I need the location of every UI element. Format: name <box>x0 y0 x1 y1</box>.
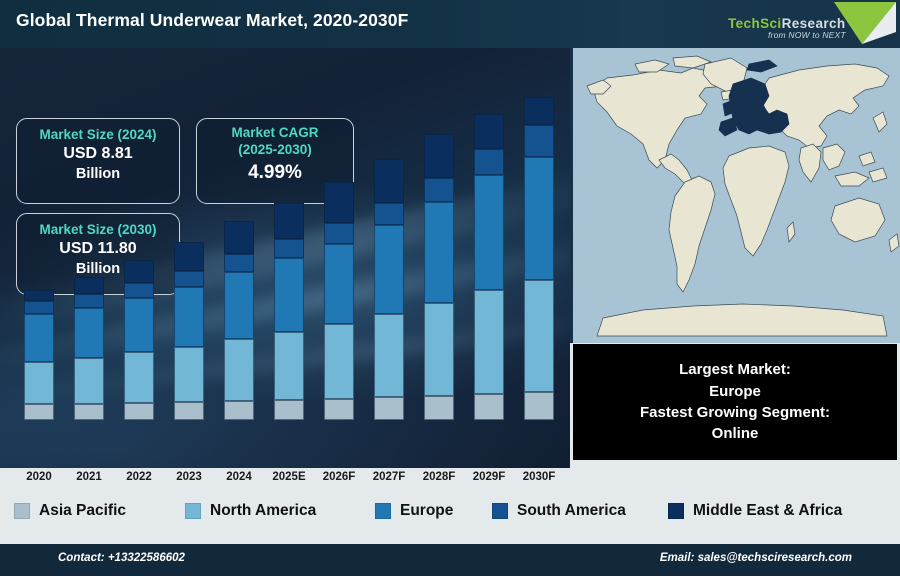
x-axis-tick-label: 2020 <box>14 471 64 483</box>
chart-bar <box>424 134 454 420</box>
legend-label: Europe <box>400 502 453 520</box>
x-axis-tick-label: 2022 <box>114 471 164 483</box>
chart-x-axis: 202020212022202320242025E2026F2027F2028F… <box>0 468 570 490</box>
header-bar: Global Thermal Underwear Market, 2020-20… <box>0 0 900 48</box>
legend-swatch <box>492 503 508 519</box>
chart-bar-segment <box>174 271 204 287</box>
stacked-bar-chart <box>0 48 570 468</box>
chart-bar-segment <box>274 203 304 239</box>
x-axis-tick-label: 2030F <box>514 471 564 483</box>
chart-bar-segment <box>124 403 154 420</box>
world-map <box>570 48 900 343</box>
footer-email: Email: sales@techsciresearch.com <box>660 552 852 564</box>
legend-swatch <box>14 503 30 519</box>
chart-bar <box>124 260 154 420</box>
chart-bar-segment <box>374 397 404 420</box>
chart-bar-segment <box>274 258 304 332</box>
chart-panel: Market Size (2024) USD 8.81 Billion Mark… <box>0 48 570 468</box>
chart-bar-segment <box>74 358 104 404</box>
legend-swatch <box>375 503 391 519</box>
footer-contact: Contact: +13322586602 <box>58 552 185 564</box>
infographic-root: Global Thermal Underwear Market, 2020-20… <box>0 0 900 576</box>
chart-bar <box>474 114 504 420</box>
chart-bar-segment <box>74 277 104 294</box>
chart-bar-segment <box>74 308 104 358</box>
legend-label: South America <box>517 502 626 520</box>
x-axis-tick-label: 2027F <box>364 471 414 483</box>
legend-item[interactable]: North America <box>185 502 316 520</box>
chart-bar <box>374 159 404 420</box>
chart-bar-segment <box>424 178 454 202</box>
chart-bar-segment <box>524 280 554 392</box>
chart-bar <box>524 97 554 420</box>
chart-bar-segment <box>324 324 354 399</box>
chart-bar-segment <box>274 239 304 258</box>
chart-bar-segment <box>374 159 404 203</box>
chart-bar-segment <box>474 149 504 175</box>
chart-bar-segment <box>524 125 554 157</box>
x-axis-tick-label: 2023 <box>164 471 214 483</box>
chart-bar <box>24 290 54 420</box>
chart-bar-segment <box>24 404 54 420</box>
chart-bar-segment <box>224 221 254 254</box>
chart-bar-segment <box>424 303 454 396</box>
chart-bar-segment <box>374 203 404 225</box>
legend-item[interactable]: Asia Pacific <box>14 502 126 520</box>
legend-swatch <box>668 503 684 519</box>
chart-bar-segment <box>74 404 104 420</box>
logo-name-research: Research <box>782 16 846 31</box>
x-axis-tick-label: 2026F <box>314 471 364 483</box>
key-findings-box: Largest Market: Europe Fastest Growing S… <box>573 344 897 460</box>
chart-bar-segment <box>224 272 254 339</box>
x-axis-tick-label: 2028F <box>414 471 464 483</box>
chart-bar-segment <box>274 332 304 400</box>
x-axis-tick-label: 2029F <box>464 471 514 483</box>
chart-bar-segment <box>124 260 154 283</box>
chart-bar-segment <box>424 202 454 303</box>
chart-bar-segment <box>324 244 354 324</box>
chart-bar-segment <box>274 400 304 420</box>
footer-bar: Contact: +13322586602 Email: sales@techs… <box>0 544 900 576</box>
chart-bar-segment <box>474 114 504 149</box>
chart-bar-segment <box>224 401 254 420</box>
x-axis-tick-label: 2025E <box>264 471 314 483</box>
legend-item[interactable]: Middle East & Africa <box>668 502 842 520</box>
logo-wordmark: TechSciResearch <box>728 16 846 31</box>
legend-item[interactable]: South America <box>492 502 626 520</box>
largest-market-value: Europe <box>709 381 761 402</box>
chart-bar-segment <box>474 290 504 394</box>
chart-bar <box>324 182 354 420</box>
chart-bar-segment <box>524 97 554 125</box>
fastest-segment-value: Online <box>712 423 759 444</box>
chart-bar-segment <box>174 287 204 347</box>
chart-bar-segment <box>74 294 104 308</box>
chart-legend: Asia PacificNorth AmericaEuropeSouth Ame… <box>0 490 900 532</box>
chart-bar <box>224 221 254 420</box>
chart-bar <box>174 242 204 420</box>
legend-label: Middle East & Africa <box>693 502 842 520</box>
chart-bar-segment <box>124 298 154 352</box>
x-axis-tick-label: 2021 <box>64 471 114 483</box>
chart-bar-segment <box>424 396 454 420</box>
chart-bar-segment <box>124 352 154 403</box>
chart-bar-segment <box>324 399 354 420</box>
legend-swatch <box>185 503 201 519</box>
chart-bar-segment <box>24 290 54 301</box>
legend-label: Asia Pacific <box>39 502 126 520</box>
chart-bar <box>274 203 304 420</box>
chart-bar-segment <box>524 392 554 420</box>
chart-bar-segment <box>324 182 354 223</box>
chart-bar-segment <box>224 339 254 401</box>
chart-bar-segment <box>324 223 354 244</box>
chart-bar-segment <box>424 134 454 178</box>
chart-bar-segment <box>224 254 254 272</box>
world-map-svg <box>573 48 900 343</box>
x-axis-tick-label: 2024 <box>214 471 264 483</box>
largest-market-label: Largest Market: <box>679 359 791 380</box>
chart-bar-segment <box>24 362 54 404</box>
legend-label: North America <box>210 502 316 520</box>
techsci-research-logo: TechSciResearch from NOW to NEXT <box>712 0 898 47</box>
page-title: Global Thermal Underwear Market, 2020-20… <box>16 10 408 31</box>
chart-bar-segment <box>174 242 204 271</box>
fastest-segment-label: Fastest Growing Segment: <box>640 402 830 423</box>
chart-bar-segment <box>374 225 404 314</box>
chart-bar-segment <box>524 157 554 280</box>
logo-name-tech: TechSci <box>728 16 782 31</box>
chart-bar-segment <box>174 347 204 402</box>
chart-bar-segment <box>24 301 54 314</box>
logo-tagline: from NOW to NEXT <box>768 30 846 40</box>
chart-bar-segment <box>124 283 154 298</box>
chart-bar-segment <box>374 314 404 397</box>
chart-bar-segment <box>24 314 54 362</box>
chart-bar <box>74 277 104 420</box>
legend-item[interactable]: Europe <box>375 502 453 520</box>
chart-bar-segment <box>174 402 204 420</box>
chart-bar-segment <box>474 394 504 420</box>
chart-bar-segment <box>474 175 504 290</box>
